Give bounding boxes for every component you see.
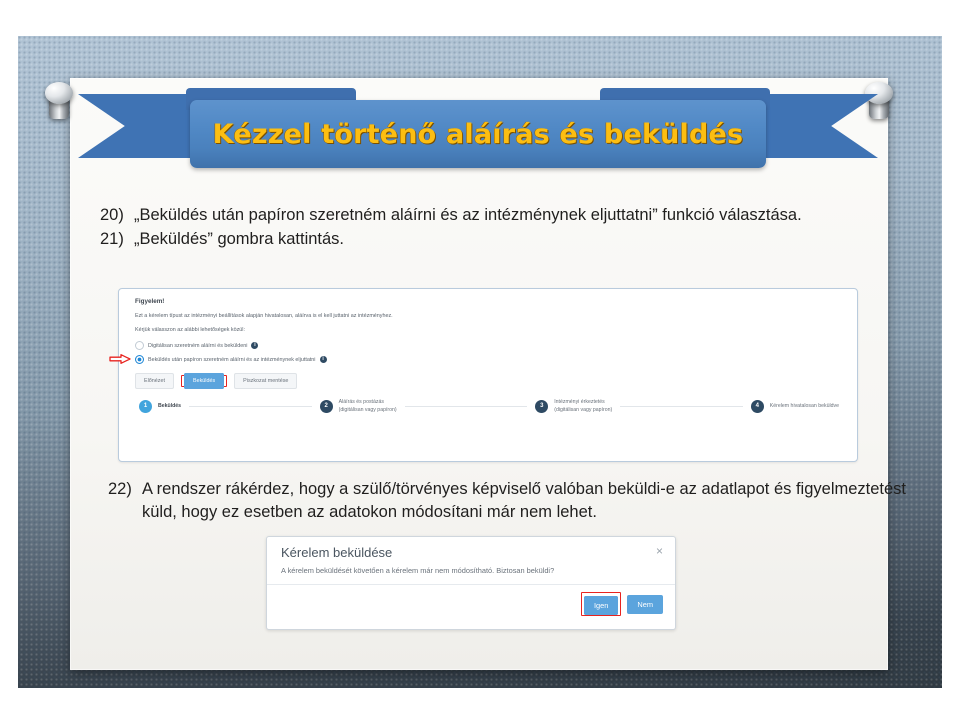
stepper-label-2: Aláírás és postázás (digitálisan vagy pa… (339, 399, 397, 414)
confirm-button[interactable]: Igen (584, 596, 618, 615)
slide: Kézzel történő aláírás és beküldés 20) „… (0, 0, 960, 720)
stepper-connector (620, 406, 743, 407)
instruction-22: 22) A rendszer rákérdez, hogy a szülő/tö… (108, 478, 908, 526)
stepper-label-3-line1: Intézményi érkeztetés (554, 399, 604, 405)
close-icon[interactable]: × (656, 545, 663, 557)
dialog-footer: Igen Nem (267, 585, 675, 616)
stepper-connector (405, 406, 528, 407)
list-item-text: „Beküldés után papíron szeretném aláírni… (134, 204, 890, 226)
stepper-number-4: 4 (751, 400, 764, 413)
red-arrow-icon (109, 354, 131, 364)
pin-left-icon (42, 82, 76, 122)
panel-paragraph-2: Kérjük válasszon az alábbi lehetőségek k… (135, 327, 843, 333)
progress-stepper: 1 Beküldés 2 Aláírás és postázás (digitá… (135, 399, 843, 414)
stepper-label-3-line2: (digitálisan vagy papíron) (554, 407, 612, 413)
panel-button-row: Előnézet Beküldés Piszkozat mentése (135, 373, 843, 389)
stepper-connector (189, 406, 312, 407)
info-icon[interactable]: i (251, 342, 258, 349)
ribbon-band: Kézzel történő aláírás és beküldés (190, 100, 766, 168)
stepper-label-4-line1: Kérelem hivatalosan beküldve (770, 403, 839, 409)
stepper-label-2-line1: Aláírás és postázás (339, 399, 384, 405)
save-draft-button[interactable]: Piszkozat mentése (234, 373, 297, 389)
stepper-number-2: 2 (320, 400, 333, 413)
submit-button-highlight: Beküldés (181, 375, 227, 387)
radio-button-paper[interactable] (135, 355, 144, 364)
list-item-number: 20) (100, 204, 134, 226)
stepper-label-1-line1: Beküldés (158, 403, 181, 409)
dialog-body-text: A kérelem beküldését követően a kérelem … (267, 560, 675, 585)
dialog-title: Kérelem beküldése (281, 545, 392, 560)
stepper-label-1: Beküldés (158, 403, 181, 411)
panel-paragraph-1: Ezt a kérelem típust az intézményi beáll… (135, 313, 843, 319)
application-screenshot-panel: Figyelem! Ezt a kérelem típust az intézm… (118, 288, 858, 462)
radio-option-paper[interactable]: Beküldés után papíron szeretném aláírni … (135, 355, 843, 364)
title-ribbon: Kézzel történő aláírás és beküldés (78, 88, 878, 170)
radio-label-digital: Digitálisan szeretném aláírni és bekülde… (148, 343, 247, 349)
list-item-text: „Beküldés” gombra kattintás. (134, 228, 890, 250)
stepper-label-4: Kérelem hivatalosan beküldve (770, 403, 839, 411)
stepper-step-3: 3 Intézményi érkeztetés (digitálisan vag… (535, 399, 612, 414)
list-item-text: A rendszer rákérdez, hogy a szülő/törvén… (142, 478, 908, 524)
submit-button[interactable]: Beküldés (184, 373, 224, 389)
confirm-button-highlight: Igen (581, 592, 621, 616)
page-title: Kézzel történő aláírás és beküldés (213, 119, 744, 150)
list-item: 21) „Beküldés” gombra kattintás. (100, 228, 890, 250)
instruction-list: 20) „Beküldés után papíron szeretném alá… (100, 204, 890, 252)
radio-label-paper: Beküldés után papíron szeretném aláírni … (148, 357, 316, 363)
stepper-number-3: 3 (535, 400, 548, 413)
cancel-button[interactable]: Nem (627, 595, 663, 614)
stepper-step-4: 4 Kérelem hivatalosan beküldve (751, 400, 839, 413)
list-item-number: 21) (100, 228, 134, 250)
stepper-label-3: Intézményi érkeztetés (digitálisan vagy … (554, 399, 612, 414)
info-icon[interactable]: i (320, 356, 327, 363)
confirmation-dialog: Kérelem beküldése × A kérelem beküldését… (266, 536, 676, 630)
panel-warning-title: Figyelem! (135, 298, 843, 305)
list-item-number: 22) (108, 478, 142, 524)
preview-button[interactable]: Előnézet (135, 373, 174, 389)
list-item: 20) „Beküldés után papíron szeretném alá… (100, 204, 890, 226)
stepper-number-1: 1 (139, 400, 152, 413)
stepper-label-2-line2: (digitálisan vagy papíron) (339, 407, 397, 413)
radio-option-digital[interactable]: Digitálisan szeretném aláírni és bekülde… (135, 341, 843, 350)
list-item: 22) A rendszer rákérdez, hogy a szülő/tö… (108, 478, 908, 524)
stepper-step-2: 2 Aláírás és postázás (digitálisan vagy … (320, 399, 397, 414)
radio-button-digital[interactable] (135, 341, 144, 350)
stepper-step-1: 1 Beküldés (139, 400, 181, 413)
dialog-header: Kérelem beküldése × (267, 537, 675, 560)
